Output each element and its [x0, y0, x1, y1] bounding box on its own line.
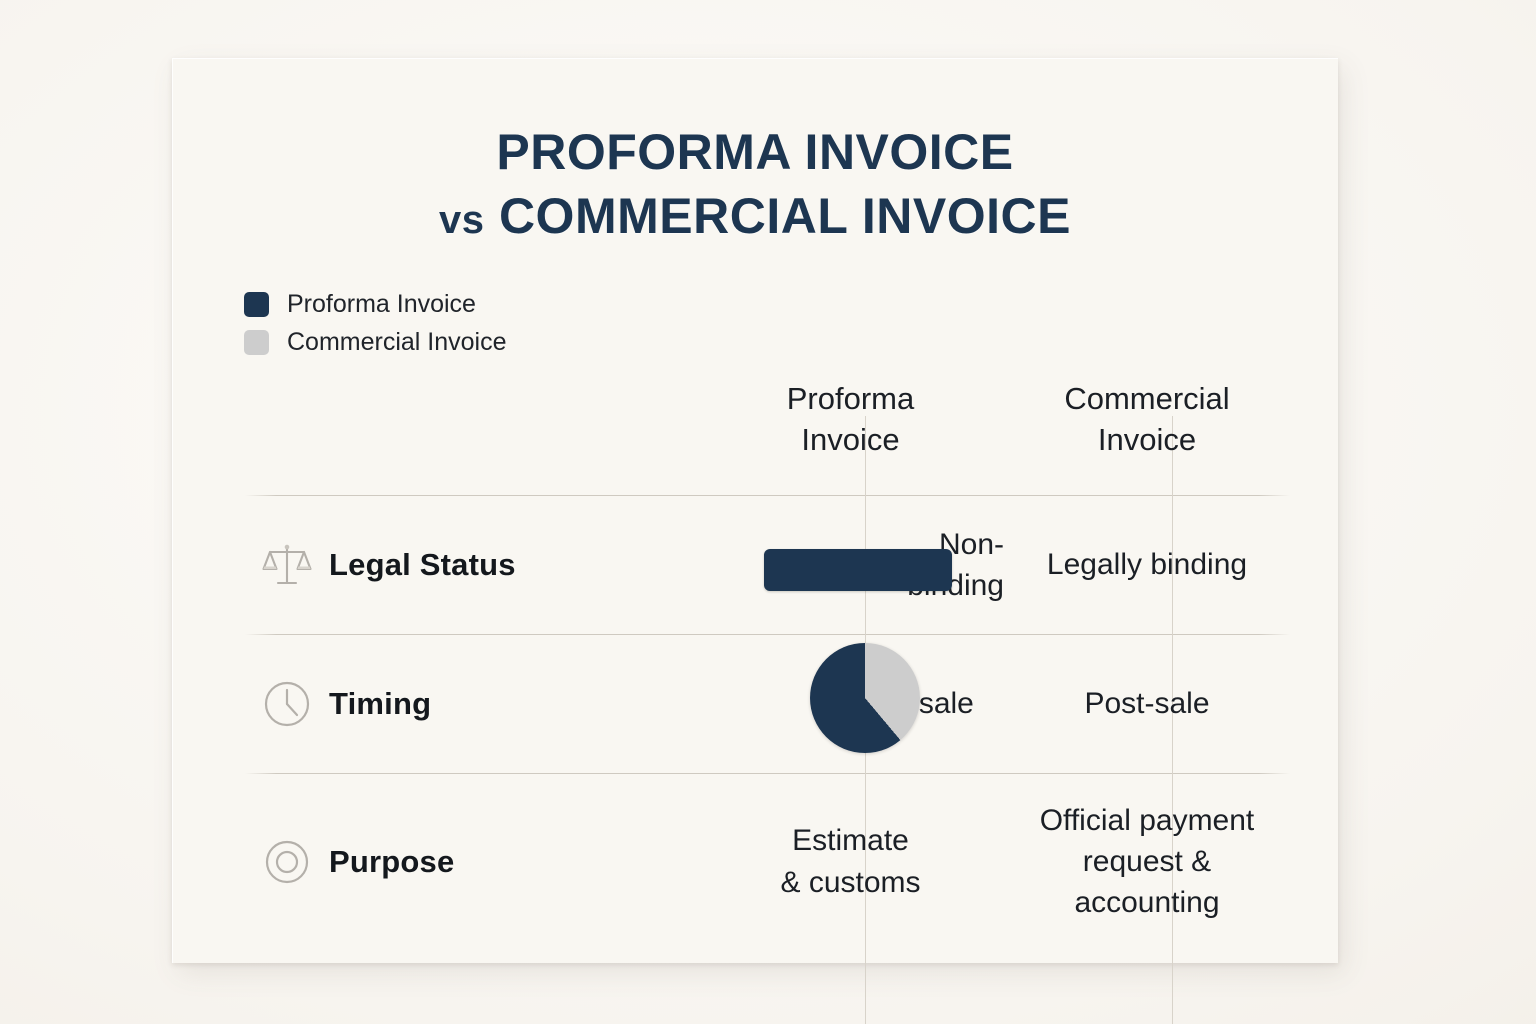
cell-text: & customs [697, 862, 1004, 903]
legend-item-label: Proforma Invoice [287, 292, 476, 317]
header-text: Proforma [697, 379, 1004, 420]
table-row[interactable]: Purpose Estimate & customs Official paym… [245, 774, 1290, 949]
legend-item-proforma[interactable]: Proforma Invoice [244, 285, 507, 323]
title-line-2-text: COMMERCIAL INVOICE [499, 188, 1071, 244]
header-text: Invoice [1004, 420, 1290, 461]
header-cell-proforma: Proforma Invoice [697, 379, 1004, 495]
cell-text: Legally binding [1004, 544, 1290, 585]
cell-commercial: Post-sale [1004, 683, 1290, 724]
header-text: Invoice [697, 420, 1004, 461]
header-cell-commercial: Commercial Invoice [1004, 379, 1290, 495]
clock-icon [245, 678, 329, 730]
cell-commercial: Official payment request & accounting [1004, 800, 1290, 923]
infographic-canvas: PROFORMA INVOICE vs COMMERCIAL INVOICE P… [0, 0, 1536, 1024]
cell-text: Official payment [1004, 800, 1290, 841]
page-title: PROFORMA INVOICE vs COMMERCIAL INVOICE [172, 120, 1338, 248]
cell-text: Post-sale [1004, 683, 1290, 724]
comparison-table: Proforma Invoice Commercial Invoice [245, 328, 1290, 949]
table-row[interactable]: Timing Pre-sale Post-sale [245, 635, 1290, 773]
header-text: Commercial [1004, 379, 1290, 420]
row-label: Purpose [329, 844, 454, 880]
comparison-card: PROFORMA INVOICE vs COMMERCIAL INVOICE P… [172, 58, 1338, 963]
legal-status-bar-chart [764, 549, 952, 591]
target-icon [245, 836, 329, 888]
cell-text: Estimate [697, 820, 1004, 861]
cell-text: accounting [1004, 882, 1290, 923]
scales-icon [245, 539, 329, 591]
bar-proforma [764, 549, 952, 591]
square-swatch-navy-icon [244, 292, 269, 317]
table-header-row: Proforma Invoice Commercial Invoice [245, 328, 1290, 495]
row-label-cell: Purpose [245, 836, 697, 888]
title-line-2: vs COMMERCIAL INVOICE [172, 184, 1338, 248]
cell-commercial: Legally binding [1004, 544, 1290, 585]
title-vs: vs [439, 198, 485, 242]
cell-text: request & [1004, 841, 1290, 882]
pie-slices [810, 643, 920, 753]
row-label: Timing [329, 686, 431, 722]
row-label-cell: Legal Status [245, 539, 697, 591]
cell-proforma: Estimate & customs [697, 820, 1004, 902]
timing-pie-chart [810, 643, 920, 753]
title-line-1: PROFORMA INVOICE [172, 120, 1338, 184]
row-label-cell: Timing [245, 678, 697, 730]
row-label: Legal Status [329, 547, 516, 583]
